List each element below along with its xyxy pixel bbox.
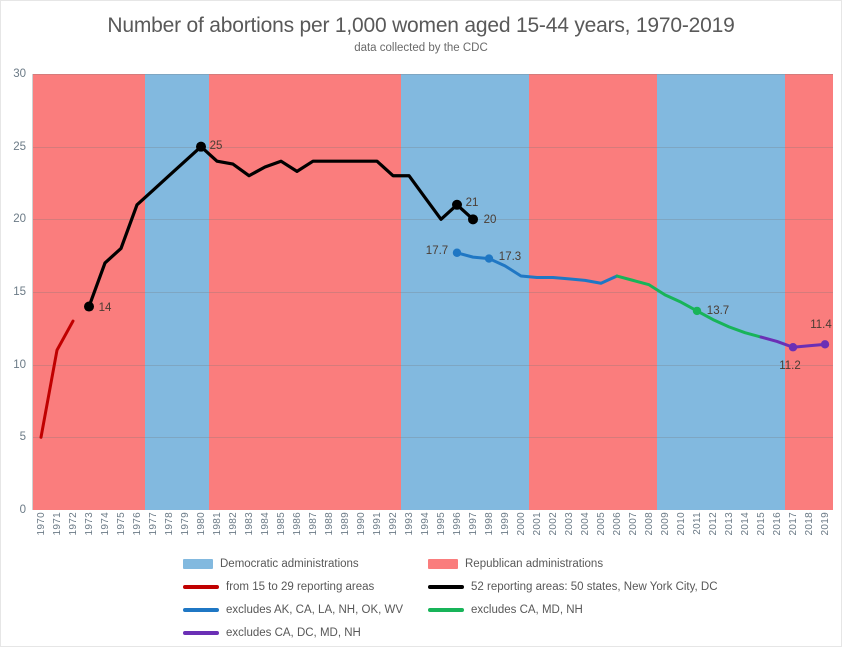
data-point-marker (452, 200, 462, 210)
x-tick-label: 1985 (276, 512, 287, 535)
legend-label: excludes AK, CA, LA, NH, OK, WV (226, 604, 403, 616)
legend-item[interactable]: excludes CA, DC, MD, NH (183, 623, 361, 643)
series-line (457, 253, 617, 284)
x-tick-label: 2015 (756, 512, 767, 535)
legend-swatch-box (183, 559, 213, 569)
series-lines (33, 74, 833, 510)
x-tick-label: 1980 (196, 512, 207, 535)
plot-area (33, 74, 833, 510)
legend-item[interactable]: 52 reporting areas: 50 states, New York … (428, 577, 718, 597)
x-tick-label: 1973 (84, 512, 95, 535)
y-tick-label: 30 (0, 68, 26, 80)
y-tick-label: 20 (0, 213, 26, 225)
data-point-marker (84, 302, 94, 312)
series-line (89, 147, 473, 307)
legend-label: Republican administrations (465, 558, 603, 570)
legend-item[interactable]: Democratic administrations (183, 554, 359, 574)
x-tick-label: 2003 (564, 512, 575, 535)
x-tick-label: 1982 (228, 512, 239, 535)
x-tick-label: 2002 (548, 512, 559, 535)
x-tick-label: 1978 (164, 512, 175, 535)
y-tick-label: 15 (0, 286, 26, 298)
x-tick-label: 1984 (260, 512, 271, 535)
legend-label: from 15 to 29 reporting areas (226, 581, 374, 593)
x-tick-label: 1998 (484, 512, 495, 535)
legend-label: excludes CA, DC, MD, NH (226, 627, 361, 639)
x-tick-label: 2006 (612, 512, 623, 535)
point-label: 21 (466, 197, 479, 209)
x-tick-label: 2000 (516, 512, 527, 535)
legend-item[interactable]: from 15 to 29 reporting areas (183, 577, 374, 597)
x-tick-label: 1987 (308, 512, 319, 535)
x-tick-label: 1972 (68, 512, 79, 535)
legend-label: Democratic administrations (220, 558, 359, 570)
x-axis-labels: 1970197119721973197419751976197719781979… (33, 512, 833, 556)
x-tick-label: 1995 (436, 512, 447, 535)
series-line (617, 276, 761, 337)
point-label: 20 (484, 214, 497, 226)
x-tick-label: 1975 (116, 512, 127, 535)
x-tick-label: 1971 (52, 512, 63, 535)
x-tick-label: 2017 (788, 512, 799, 535)
chart-legend: Democratic administrationsRepublican adm… (0, 552, 842, 644)
x-tick-label: 1976 (132, 512, 143, 535)
point-label: 13.7 (707, 305, 729, 317)
series-line (41, 321, 73, 437)
x-tick-label: 1979 (180, 512, 191, 535)
x-tick-label: 2019 (820, 512, 831, 535)
data-point-marker (789, 343, 797, 351)
x-tick-label: 1992 (388, 512, 399, 535)
legend-item[interactable]: excludes CA, MD, NH (428, 600, 583, 620)
legend-swatch-box (428, 559, 458, 569)
x-tick-label: 1986 (292, 512, 303, 535)
x-tick-label: 1977 (148, 512, 159, 535)
data-point-marker (821, 340, 829, 348)
y-tick-label: 25 (0, 141, 26, 153)
x-tick-label: 2018 (804, 512, 815, 535)
legend-swatch-line (428, 608, 464, 612)
chart-subtitle: data collected by the CDC (0, 42, 842, 54)
x-tick-label: 1990 (356, 512, 367, 535)
x-tick-label: 2012 (708, 512, 719, 535)
x-tick-label: 2014 (740, 512, 751, 535)
data-point-marker (468, 214, 478, 224)
legend-swatch-line (183, 585, 219, 589)
legend-label: 52 reporting areas: 50 states, New York … (471, 581, 718, 593)
x-tick-label: 1981 (212, 512, 223, 535)
x-tick-label: 1996 (452, 512, 463, 535)
x-tick-label: 2008 (644, 512, 655, 535)
legend-swatch-line (183, 608, 219, 612)
point-label: 17.7 (426, 245, 448, 257)
data-point-marker (196, 142, 206, 152)
x-tick-label: 1970 (36, 512, 47, 535)
point-label: 25 (210, 140, 223, 152)
point-label: 11.4 (810, 319, 832, 331)
data-point-marker (485, 254, 493, 262)
legend-swatch-line (183, 631, 219, 635)
y-tick-label: 10 (0, 359, 26, 371)
point-label: 11.2 (779, 360, 801, 372)
y-tick-label: 0 (0, 504, 26, 516)
x-tick-label: 1991 (372, 512, 383, 535)
y-tick-label: 5 (0, 431, 26, 443)
legend-swatch-line (428, 585, 464, 589)
legend-item[interactable]: Republican administrations (428, 554, 603, 574)
x-tick-label: 2011 (692, 512, 703, 535)
x-tick-label: 1997 (468, 512, 479, 535)
x-tick-label: 1999 (500, 512, 511, 535)
x-tick-label: 1989 (340, 512, 351, 535)
x-tick-label: 2001 (532, 512, 543, 535)
point-label: 14 (99, 302, 112, 314)
chart-title: Number of abortions per 1,000 women aged… (0, 14, 842, 38)
x-tick-label: 1994 (420, 512, 431, 535)
legend-item[interactable]: excludes AK, CA, LA, NH, OK, WV (183, 600, 403, 620)
point-label: 17.3 (499, 251, 521, 263)
x-tick-label: 2004 (580, 512, 591, 535)
x-tick-label: 2013 (724, 512, 735, 535)
x-tick-label: 2016 (772, 512, 783, 535)
x-tick-label: 1983 (244, 512, 255, 535)
x-tick-label: 2007 (628, 512, 639, 535)
data-point-marker (453, 249, 461, 257)
legend-label: excludes CA, MD, NH (471, 604, 583, 616)
x-tick-label: 1988 (324, 512, 335, 535)
data-point-marker (693, 307, 701, 315)
x-tick-label: 2005 (596, 512, 607, 535)
x-tick-label: 2010 (676, 512, 687, 535)
x-tick-label: 1974 (100, 512, 111, 535)
x-tick-label: 1993 (404, 512, 415, 535)
x-tick-label: 2009 (660, 512, 671, 535)
